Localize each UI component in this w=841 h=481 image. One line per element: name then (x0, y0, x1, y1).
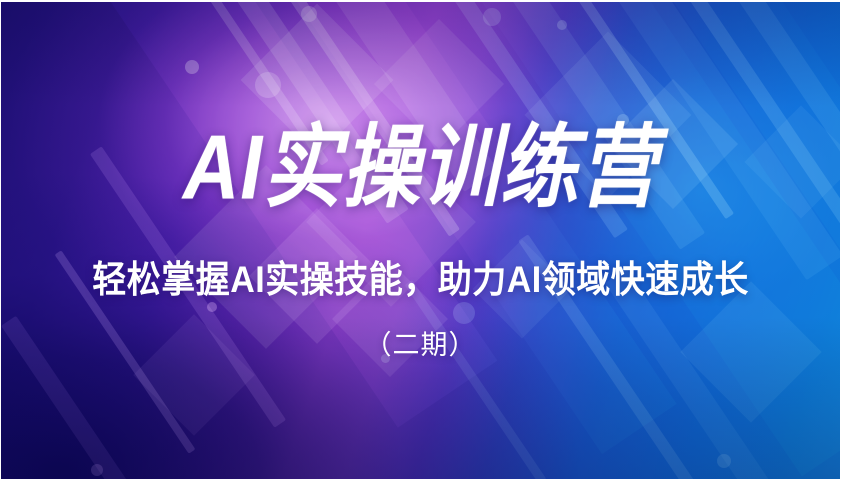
poster-edition-label: （二期） (365, 332, 477, 359)
poster-subtitle: 轻松掌握AI实操技能，助力AI领域快速成长 (92, 262, 749, 299)
promo-poster: AI实操训练营 轻松掌握AI实操技能，助力AI领域快速成长 （二期） (0, 0, 841, 481)
poster-content: AI实操训练营 轻松掌握AI实操技能，助力AI领域快速成长 （二期） (1, 2, 840, 479)
poster-title: AI实操训练营 (183, 122, 658, 212)
